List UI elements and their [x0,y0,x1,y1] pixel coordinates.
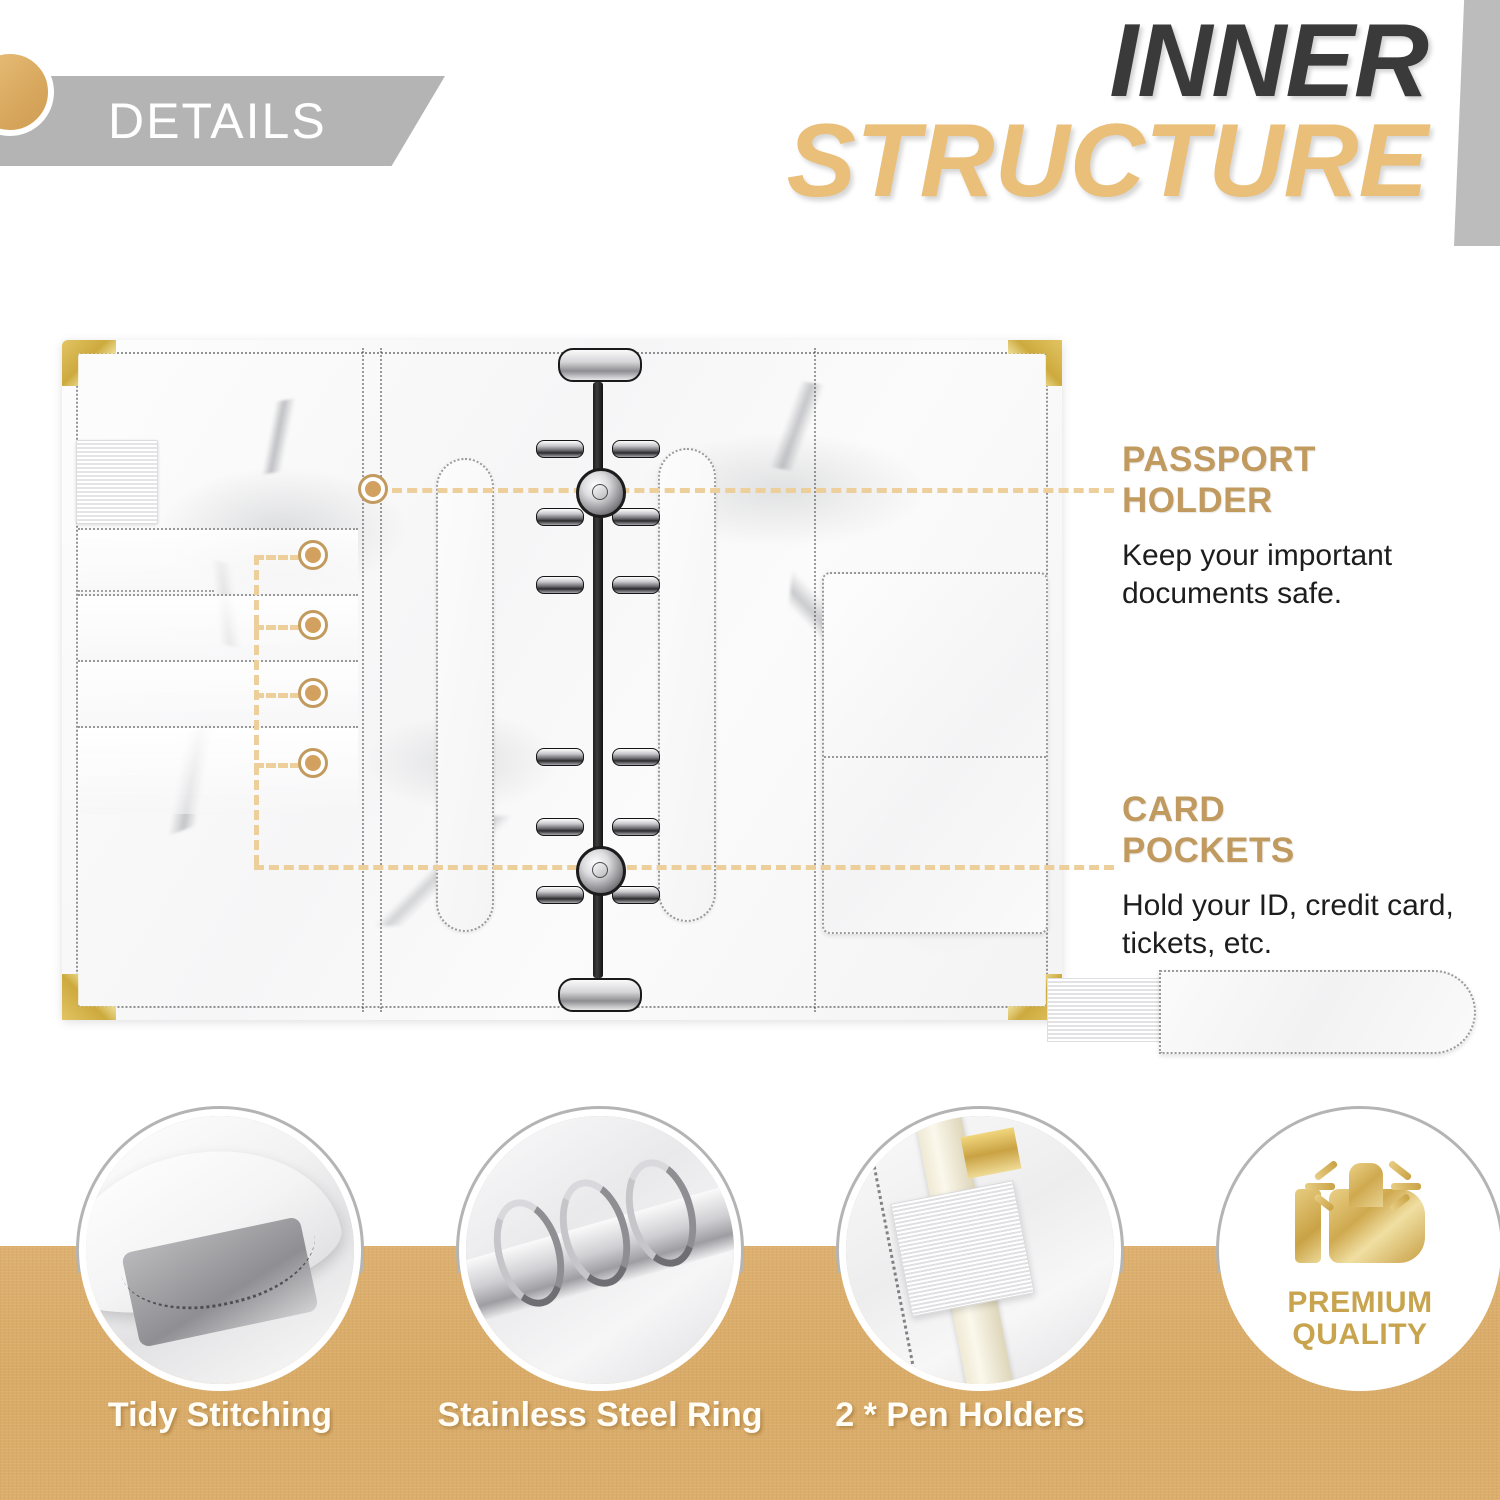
six-ring-binder-mechanism [538,348,658,1012]
binder-ring [612,440,660,458]
spark-line [1314,1160,1339,1182]
binder-ring [536,818,584,836]
spark-line [1305,1183,1335,1190]
ring-cap-top [558,348,642,382]
product-photo [62,340,1062,1020]
feature-thumbnail-stainless-steel-ring [466,1116,734,1384]
binder-ring [612,886,660,904]
marker-passport-holder [358,474,388,504]
premium-quality-badge: PREMIUM QUALITY [1226,1116,1494,1384]
binder-ring [612,818,660,836]
binder-ring [536,508,584,526]
annotation-title: PASSPORT HOLDER [1122,440,1482,521]
binder-ring [612,576,660,594]
binder-ring [536,886,584,904]
fold-seam-right [814,348,816,1012]
elastic-closure-strap [1047,964,1472,1054]
annotation-title-line1: PASSPORT [1122,440,1316,479]
spark-line [1388,1160,1413,1182]
dash-stub-1 [254,555,300,560]
badge-text: PREMIUM QUALITY [1287,1287,1432,1351]
title-accent-bar [1454,0,1500,246]
annotation-body: Keep your important documents safe. [1122,537,1482,612]
binder-ring [536,440,584,458]
strap-leather-tab [1159,970,1476,1054]
badge-line2: QUALITY [1292,1318,1427,1351]
pen-gold-band [960,1127,1021,1179]
ring-clasp-top [576,468,626,518]
binder-ring [612,748,660,766]
planner-open-view [62,340,1062,1020]
annotation-title: CARD POCKETS [1122,790,1482,871]
annotation-title-line2: HOLDER [1122,481,1273,520]
binder-ring [536,576,584,594]
pen-holder-strip-right [658,448,716,922]
strap-elastic-band [1047,978,1169,1042]
feature-thumbnail-tidy-stitching [86,1116,354,1384]
badge-line1: PREMIUM [1287,1286,1432,1319]
marker-card-pocket-3 [298,678,328,708]
thumbs-up-icon [1295,1163,1425,1275]
spark-line [1391,1183,1421,1190]
marker-card-pocket-2 [298,610,328,640]
ring-cap-bottom [558,978,642,1012]
annotation-card-pockets: CARD POCKETS Hold your ID, credit card, … [1122,790,1482,962]
binder-ring [536,748,584,766]
title-line-structure: STRUCTURE [787,114,1428,210]
dash-connector-card-vertical [254,555,259,865]
thumb-digit [1349,1163,1383,1207]
passport-pocket-divider [824,756,1046,758]
annotation-body: Hold your ID, credit card, tickets, etc. [1122,887,1482,962]
binder-ring [612,508,660,526]
dash-connector-passport [392,488,1114,493]
infographic-page: DETAILS INNER STRUCTURE [0,0,1500,1500]
fold-seam-left [362,348,364,1012]
annotation-title-line2: POCKETS [1122,831,1295,870]
fold-seam-left-inner [380,348,382,1012]
pen-elastic-loop [890,1180,1035,1316]
passport-holder-pocket [822,572,1048,934]
dash-connector-card-pockets [254,865,1114,870]
marker-card-pocket-1 [298,540,328,570]
dash-stub-4 [254,763,300,768]
left-elastic-loop [76,440,158,524]
pen-holder-strip-left [436,458,494,932]
feature-thumbnail-pen-holders [846,1116,1114,1384]
ring-clasp-bottom [576,846,626,896]
annotation-passport-holder: PASSPORT HOLDER Keep your important docu… [1122,440,1482,612]
card-pocket-lip [78,590,214,594]
thumb-photo [466,1116,734,1384]
thumb-photo [846,1116,1114,1384]
feature-label-tidy-stitching: Tidy Stitching [40,1396,400,1435]
dash-stub-3 [254,693,300,698]
marker-card-pocket-4 [298,748,328,778]
title-line-inner: INNER [787,14,1428,110]
annotation-title-line1: CARD [1122,790,1225,829]
feature-label-pen-holders: 2 * Pen Holders [780,1396,1140,1435]
feature-label-stainless-steel-ring: Stainless Steel Ring [420,1396,780,1435]
thumb-photo [86,1116,354,1384]
dash-stub-2 [254,625,300,630]
page-title: INNER STRUCTURE [787,14,1428,209]
details-label: DETAILS [108,76,327,166]
